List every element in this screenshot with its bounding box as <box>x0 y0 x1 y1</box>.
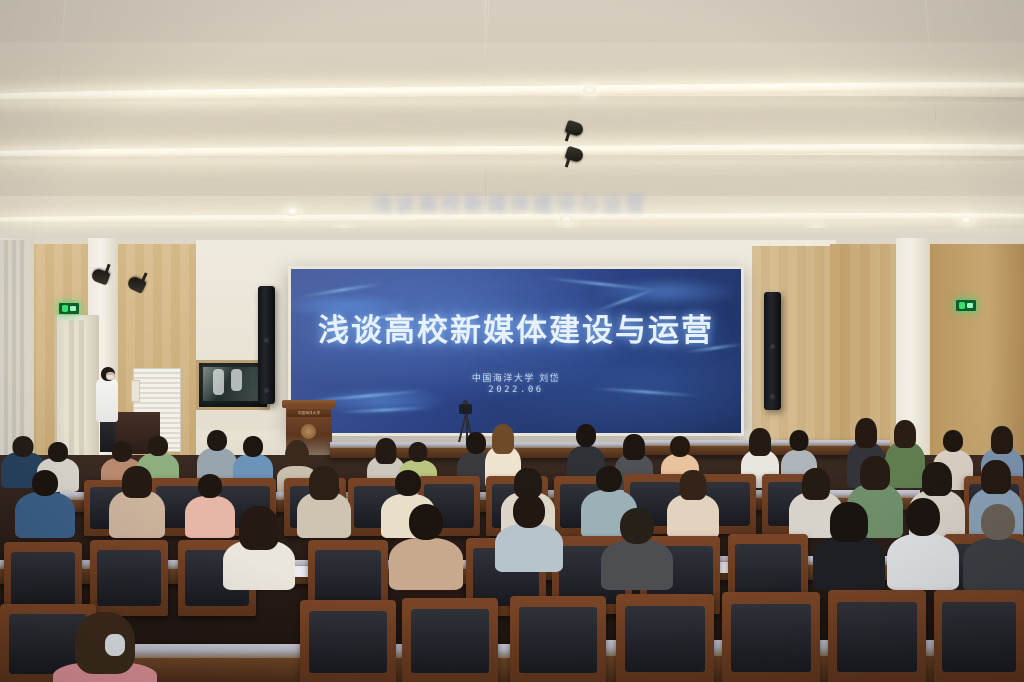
face-mask-icon <box>104 634 126 658</box>
audience-member <box>812 502 886 586</box>
exit-sign-icon <box>59 303 79 314</box>
ceiling-panel-band <box>0 0 1024 42</box>
audience-member <box>388 504 464 586</box>
downlight-icon <box>960 216 973 224</box>
audience-member <box>600 508 674 586</box>
left-door[interactable] <box>55 315 99 455</box>
audience-member <box>296 466 352 536</box>
audience-member <box>666 470 720 536</box>
presenter-body <box>96 378 118 422</box>
chair <box>90 540 168 616</box>
projection-screen: 浅谈高校新媒体建设与运营 中国海洋大学 刘岱 2022.06 <box>288 266 744 436</box>
slide-title: 浅谈高校新媒体建设与运营 <box>291 305 741 350</box>
chair <box>934 590 1024 682</box>
audience-member <box>886 498 960 586</box>
camera-on-tripod <box>459 404 472 414</box>
chair <box>300 600 396 682</box>
lecture-hall-photo: 浅谈高校新媒体建设与运营 <box>0 0 1024 682</box>
downlight-icon <box>583 86 596 94</box>
wall-switch-plate[interactable] <box>131 380 140 402</box>
ceiling-title-reflection: 浅谈高校新媒体建设与运营 <box>345 188 675 214</box>
chair <box>828 590 926 682</box>
slide-date: 2022.06 <box>291 385 741 395</box>
wall-speaker-right <box>764 292 781 410</box>
booth-figure <box>213 369 224 395</box>
audience-member <box>222 506 296 584</box>
projection-screen-surface: 浅谈高校新媒体建设与运营 中国海洋大学 刘岱 2022.06 <box>291 269 741 433</box>
audience-member <box>962 504 1024 588</box>
lectern-emblem <box>301 424 316 439</box>
slide-subtitle: 中国海洋大学 刘岱 <box>291 371 741 384</box>
chair <box>402 598 498 682</box>
downlight-icon <box>286 208 299 216</box>
chair <box>616 594 714 682</box>
chair <box>722 592 820 682</box>
wall-speaker-left <box>258 286 275 404</box>
audience-member <box>494 494 564 568</box>
audience-member <box>108 466 166 536</box>
booth-figure <box>231 369 242 391</box>
downlight-icon <box>560 215 573 223</box>
face-mask-icon <box>107 375 114 379</box>
exit-sign-icon <box>956 300 976 311</box>
chair <box>510 596 606 682</box>
lectern-plaque: 中国海洋大学 <box>287 409 331 417</box>
audience-member <box>14 470 76 536</box>
door-leaf <box>64 320 86 455</box>
